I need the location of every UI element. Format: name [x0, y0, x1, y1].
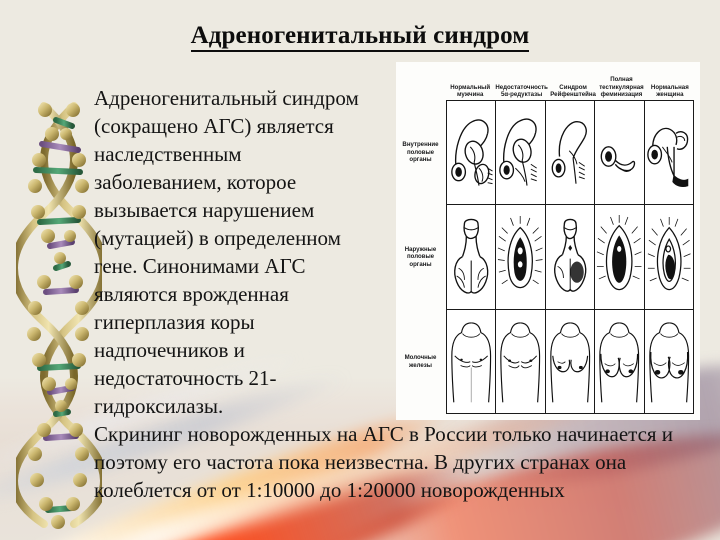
- cell-external-5a-reductase: [496, 205, 545, 308]
- column-header-reifenstein: Синдром Рейфенштейна: [549, 66, 597, 100]
- page-title-text: Адреногенитальный синдром: [191, 22, 530, 52]
- row-label-internal-genitalia: Внутренние половые органы: [398, 100, 446, 205]
- row-label-mammary-glands: Молочные железы: [398, 309, 446, 414]
- figure-column-headers: Нормальный мужчина Недостаточность 5α-ре…: [446, 66, 694, 100]
- cell-internal-testicular-feminization: [595, 101, 644, 204]
- figure-matrix: [446, 100, 694, 414]
- page-title: Адреногенитальный синдром: [0, 22, 720, 50]
- figure-row-internal-genitalia: [447, 101, 693, 205]
- cell-breast-5a-reductase: [496, 310, 545, 413]
- cell-internal-normal-female: [645, 101, 693, 204]
- cell-breast-testicular-feminization: [595, 310, 644, 413]
- cell-breast-normal-male: [447, 310, 496, 413]
- cell-internal-5a-reductase: [496, 101, 545, 204]
- cell-internal-normal-male: [447, 101, 496, 204]
- androgen-insensitivity-figure-panel: Нормальный мужчина Недостаточность 5α-ре…: [396, 62, 700, 420]
- figure-row-mammary-glands: [447, 310, 693, 413]
- cell-external-normal-male: [447, 205, 496, 308]
- screening-paragraph: Скрининг новорожденных на АГС в России т…: [94, 420, 694, 504]
- intro-paragraph: Адреногенитальный синдром (сокращено АГС…: [94, 84, 374, 420]
- cell-breast-normal-female: [645, 310, 693, 413]
- column-header-normal-female: Нормальная женщина: [646, 66, 694, 100]
- cell-external-normal-female: [645, 205, 693, 308]
- figure-grid: Нормальный мужчина Недостаточность 5α-ре…: [398, 66, 696, 416]
- column-header-testicular-feminization: Полная тестикулярная феминизация: [597, 66, 645, 100]
- dna-double-helix-icon: [16, 100, 102, 530]
- column-header-normal-male: Нормальный мужчина: [446, 66, 494, 100]
- row-label-external-genitalia: Наружные половые органы: [398, 205, 446, 310]
- slide-canvas: Адреногенитальный синдром: [0, 0, 720, 540]
- column-header-5a-reductase: Недостаточность 5α-редуктазы: [494, 66, 549, 100]
- figure-row-labels: Внутренние половые органы Наружные полов…: [398, 100, 446, 414]
- cell-internal-reifenstein: [546, 101, 595, 204]
- cell-external-reifenstein: [546, 205, 595, 308]
- cell-external-testicular-feminization: [595, 205, 644, 308]
- cell-breast-reifenstein: [546, 310, 595, 413]
- figure-row-external-genitalia: [447, 205, 693, 309]
